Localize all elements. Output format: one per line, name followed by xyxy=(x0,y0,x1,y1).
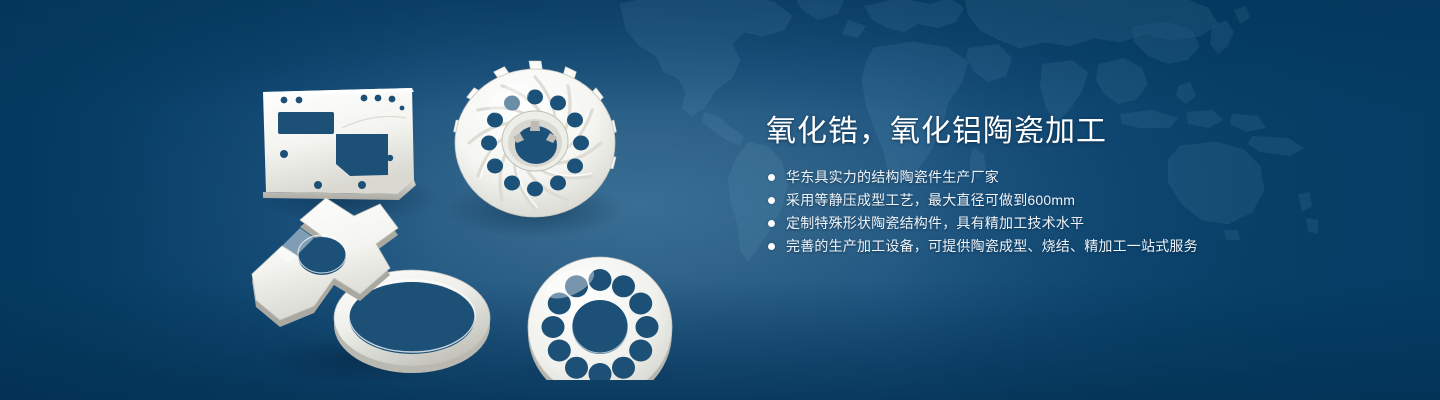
ceramic-products-photo-group xyxy=(230,30,700,380)
ceramic-impeller-disc xyxy=(454,61,618,217)
page-title: 氧化锆，氧化铝陶瓷加工 xyxy=(766,112,1386,152)
list-item: 华东具实力的结构陶瓷件生产厂家 xyxy=(766,166,1386,188)
bullet-dot-icon xyxy=(768,197,775,204)
bullet-dot-icon xyxy=(768,243,775,250)
list-item: 采用等静压成型工艺，最大直径可做到600mm xyxy=(766,189,1386,211)
bullet-dot-icon xyxy=(768,174,775,181)
list-item-label: 定制特殊形状陶瓷结构件，具有精加工技术水平 xyxy=(786,213,1084,233)
list-item-label: 采用等静压成型工艺，最大直径可做到600mm xyxy=(786,190,1075,210)
ceramic-perforated-disc xyxy=(528,257,672,380)
ceramic-plate-with-cutouts xyxy=(263,88,416,200)
promo-banner: 氧化锆，氧化铝陶瓷加工 华东具实力的结构陶瓷件生产厂家 采用等静压成型工艺，最大… xyxy=(0,0,1440,400)
list-item: 定制特殊形状陶瓷结构件，具有精加工技术水平 xyxy=(766,212,1386,234)
list-item-label: 华东具实力的结构陶瓷件生产厂家 xyxy=(786,167,999,187)
bullet-dot-icon xyxy=(768,220,775,227)
list-item: 完善的生产加工设备，可提供陶瓷成型、烧结、精加工一站式服务 xyxy=(766,235,1386,257)
feature-list: 华东具实力的结构陶瓷件生产厂家 采用等静压成型工艺，最大直径可做到600mm 定… xyxy=(766,166,1386,257)
list-item-label: 完善的生产加工设备，可提供陶瓷成型、烧结、精加工一站式服务 xyxy=(786,236,1198,256)
banner-text-block: 氧化锆，氧化铝陶瓷加工 华东具实力的结构陶瓷件生产厂家 采用等静压成型工艺，最大… xyxy=(766,112,1386,258)
